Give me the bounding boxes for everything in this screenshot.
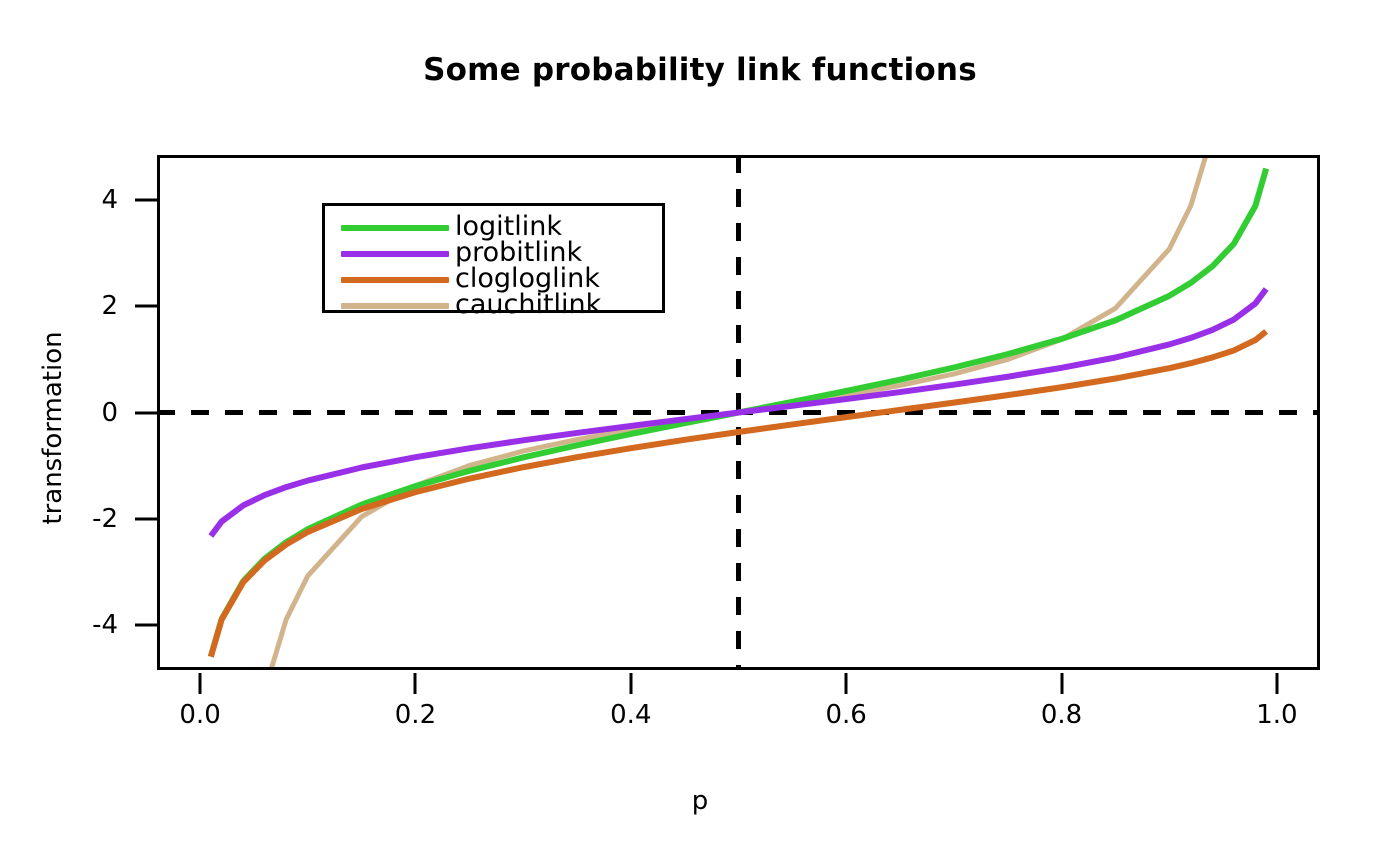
x-tick-mark: [1060, 673, 1063, 694]
x-tick-label: 1.0: [1256, 700, 1297, 730]
y-axis-label: transformation: [38, 218, 68, 638]
chart-page: Some probability link functions transfor…: [0, 0, 1400, 866]
y-tick-label: 0: [101, 398, 118, 428]
y-tick-label: 4: [101, 185, 118, 215]
y-tick-label: -4: [92, 610, 118, 640]
y-tick-mark: [135, 305, 157, 308]
legend-color-swatch: [341, 303, 449, 309]
x-tick-mark: [199, 673, 202, 694]
x-axis-tick-marks: [157, 673, 1320, 697]
legend-label: cauchitlink: [455, 289, 601, 320]
y-tick-label: 2: [101, 291, 118, 321]
x-tick-mark: [845, 673, 848, 694]
y-axis-tick-marks: [128, 155, 157, 670]
x-tick-label: 0.2: [395, 700, 436, 730]
x-tick-label: 0.8: [1041, 700, 1082, 730]
legend-color-swatch: [341, 277, 449, 283]
legend-color-swatch: [341, 225, 449, 231]
y-tick-mark: [135, 411, 157, 414]
x-tick-label: 0.6: [825, 700, 866, 730]
x-tick-mark: [414, 673, 417, 694]
x-axis-label: p: [0, 786, 1400, 816]
x-axis-tick-labels: 0.00.20.40.60.81.0: [157, 700, 1320, 746]
y-tick-mark: [135, 623, 157, 626]
x-tick-label: 0.4: [610, 700, 651, 730]
chart-legend: logitlinkprobitlinkclogloglinkcauchitlin…: [322, 203, 665, 313]
x-tick-label: 0.0: [179, 700, 220, 730]
y-tick-label: -2: [92, 504, 118, 534]
x-tick-mark: [629, 673, 632, 694]
x-tick-mark: [1275, 673, 1278, 694]
y-tick-mark: [135, 199, 157, 202]
y-axis-tick-labels: 420-2-4: [78, 155, 118, 670]
legend-color-swatch: [341, 251, 449, 257]
legend-item-cauchitlink: cauchitlink: [325, 292, 662, 318]
y-tick-mark: [135, 517, 157, 520]
page-title: Some probability link functions: [0, 52, 1400, 88]
